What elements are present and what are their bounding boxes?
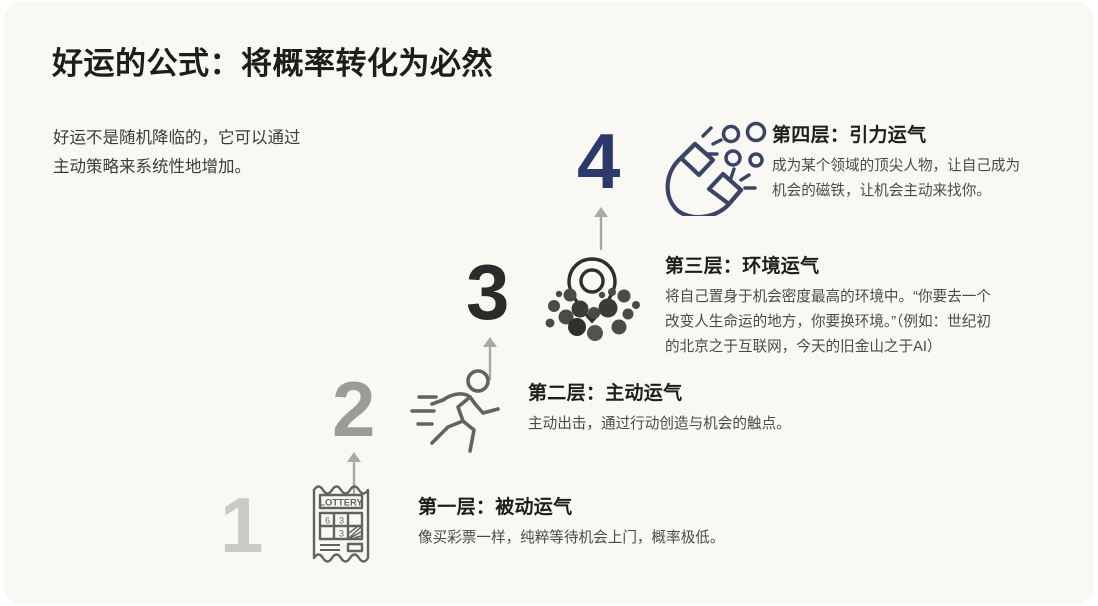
level-1-title: 第一层：被动运气 <box>418 492 788 519</box>
level-4-text: 第四层：引力运气 成为某个领域的顶尖人物，让自己成为 机会的磁铁，让机会主动来找… <box>772 120 1082 204</box>
page-subtitle: 好运不是随机降临的，它可以通过 主动策略来系统性地增加。 <box>53 124 433 182</box>
level-3-body-line-2: 改变人生命运的地方，你要换环境。”（例如：世纪初 <box>665 310 1085 335</box>
connector-arrow-3-to-4 <box>590 205 612 256</box>
level-4-body-line-2: 机会的磁铁，让机会主动来找你。 <box>772 179 1082 204</box>
lottery-label: LOTTERY <box>319 497 363 508</box>
level-2-body: 主动出击，通过行动创造与机会的触点。 <box>528 412 868 437</box>
level-2-text: 第二层：主动运气 主动出击，通过行动创造与机会的触点。 <box>528 378 868 437</box>
infographic-card: 好运的公式：将概率转化为必然 好运不是随机降临的，它可以通过 主动策略来系统性地… <box>4 2 1094 604</box>
level-4-number: 4 <box>577 122 620 200</box>
level-4-title: 第四层：引力运气 <box>772 120 1082 147</box>
level-3-body-line-1: 将自己置身于机会密度最高的环境中。“你要去一个 <box>665 285 1085 310</box>
level-4-body: 成为某个领域的顶尖人物，让自己成为 机会的磁铁，让机会主动来找你。 <box>772 154 1082 204</box>
level-2-title: 第二层：主动运气 <box>528 378 868 405</box>
page-title: 好运的公式：将概率转化为必然 <box>52 38 493 83</box>
level-3-text: 第三层：环境运气 将自己置身于机会密度最高的环境中。“你要去一个 改变人生命运的… <box>665 251 1085 360</box>
running-person-icon <box>406 367 510 462</box>
svg-text:3: 3 <box>339 516 344 526</box>
level-1-body: 像买彩票一样，纯粹等待机会上门，概率极低。 <box>418 526 788 551</box>
level-3-body: 将自己置身于机会密度最高的环境中。“你要去一个 改变人生命运的地方，你要换环境。… <box>665 285 1085 360</box>
level-1-text: 第一层：被动运气 像买彩票一样，纯粹等待机会上门，概率极低。 <box>418 492 788 551</box>
subtitle-line-2: 主动策略来系统性地增加。 <box>53 153 433 182</box>
level-3-body-line-3: 的北京之于互联网，今天的旧金山之于AI） <box>665 335 1085 360</box>
level-1-body-line-1: 像买彩票一样，纯粹等待机会上门，概率极低。 <box>418 526 788 551</box>
lottery-ticket-icon: LOTTERY 6 3 3 <box>300 480 386 575</box>
level-1-number: 1 <box>220 486 263 564</box>
svg-text:6: 6 <box>325 516 330 526</box>
magnet-icon <box>661 118 769 221</box>
location-pin-cluster-icon <box>536 251 648 350</box>
level-2-number: 2 <box>332 370 375 448</box>
level-4-body-line-1: 成为某个领域的顶尖人物，让自己成为 <box>772 154 1082 179</box>
subtitle-line-1: 好运不是随机降临的，它可以通过 <box>53 124 433 153</box>
level-3-title: 第三层：环境运气 <box>665 251 1085 278</box>
level-2-body-line-1: 主动出击，通过行动创造与机会的触点。 <box>528 412 868 437</box>
svg-text:3: 3 <box>339 529 344 539</box>
level-3-number: 3 <box>466 253 509 331</box>
